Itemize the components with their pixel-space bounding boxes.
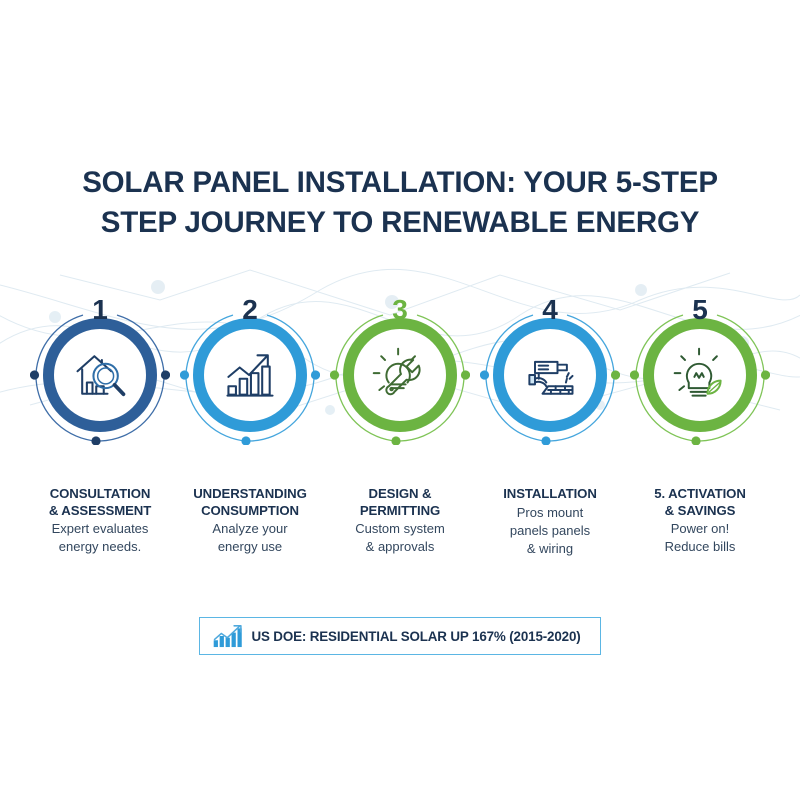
title-line-2: STEP JOURNEY TO RENEWABLE ENERGY: [0, 203, 800, 243]
step-4[interactable]: 4 INSTALLATION Pros mount panels panels …: [475, 300, 625, 600]
infographic-canvas: SOLAR PANEL INSTALLATION: YOUR 5-STEP ST…: [0, 0, 800, 800]
lightbulb-leaf-icon: [670, 345, 730, 405]
step-3-caption: DESIGN & PERMITTING Custom system & appr…: [319, 486, 481, 555]
step-2-body-line-2: energy use: [169, 538, 331, 555]
title-line-1: SOLAR PANEL INSTALLATION: YOUR 5-STEP: [0, 163, 800, 203]
statistic-badge: US DOE: RESIDENTIAL SOLAR UP 167% (2015-…: [199, 617, 601, 655]
step-1-caption: CONSULTATION & ASSESSMENT Expert evaluat…: [19, 486, 181, 555]
step-5-heading-line-1: 5. ACTIVATION: [619, 486, 781, 503]
drill-brick-wall-icon: [520, 345, 580, 405]
step-5[interactable]: 5 5. ACTIVATION & SAVINGS Power on! Redu…: [625, 300, 775, 600]
step-3[interactable]: 3 DESIGN & PERMITTING Custom system & ap…: [325, 300, 475, 600]
lightbulb-wrench-icon: [370, 345, 430, 405]
step-1-body-line-1: Expert evaluates: [19, 520, 181, 537]
step-4-body-line-3: & wiring: [469, 540, 631, 557]
page-title: SOLAR PANEL INSTALLATION: YOUR 5-STEP ST…: [0, 163, 800, 243]
step-1-heading-line-1: CONSULTATION: [19, 486, 181, 503]
step-5-body-line-1: Power on!: [619, 520, 781, 537]
step-3-heading-line-2: PERMITTING: [319, 503, 481, 520]
step-3-body-line-2: & approvals: [319, 538, 481, 555]
step-2-number: 2: [175, 296, 325, 324]
step-3-number: 3: [325, 296, 475, 324]
step-3-body-line-1: Custom system: [319, 520, 481, 537]
step-2-heading-line-2: CONSUMPTION: [169, 503, 331, 520]
step-1-number: 1: [25, 296, 175, 324]
step-4-heading-line-1: INSTALLATION: [469, 486, 631, 503]
step-5-caption: 5. ACTIVATION & SAVINGS Power on! Reduce…: [619, 486, 781, 555]
step-5-number: 5: [625, 296, 775, 324]
step-4-caption: INSTALLATION Pros mount panels panels & …: [469, 486, 631, 557]
bar-chart-arrow-icon: [220, 345, 280, 405]
step-2-body-line-1: Analyze your: [169, 520, 331, 537]
statistic-badge-text: US DOE: RESIDENTIAL SOLAR UP 167% (2015-…: [246, 629, 600, 644]
step-4-body-line-2: panels panels: [469, 522, 631, 539]
step-2[interactable]: 2 UNDERSTANDING CONSUMPTION Analyze your…: [175, 300, 325, 600]
step-1[interactable]: 1 CONSULTATION & ASSESSMENT Expert evalu…: [25, 300, 175, 600]
step-5-heading-line-2: & SAVINGS: [619, 503, 781, 520]
bar-chart-arrow-icon: [212, 623, 246, 649]
step-2-heading-line-1: UNDERSTANDING: [169, 486, 331, 503]
house-magnifier-icon: [70, 345, 130, 405]
step-2-caption: UNDERSTANDING CONSUMPTION Analyze your e…: [169, 486, 331, 555]
step-5-body-line-2: Reduce bills: [619, 538, 781, 555]
step-4-body-line-1: Pros mount: [469, 504, 631, 521]
step-1-body-line-2: energy needs.: [19, 538, 181, 555]
step-4-number: 4: [475, 296, 625, 324]
step-3-heading-line-1: DESIGN &: [319, 486, 481, 503]
step-1-heading-line-2: & ASSESSMENT: [19, 503, 181, 520]
steps-row: 1 CONSULTATION & ASSESSMENT Expert evalu…: [0, 300, 800, 600]
